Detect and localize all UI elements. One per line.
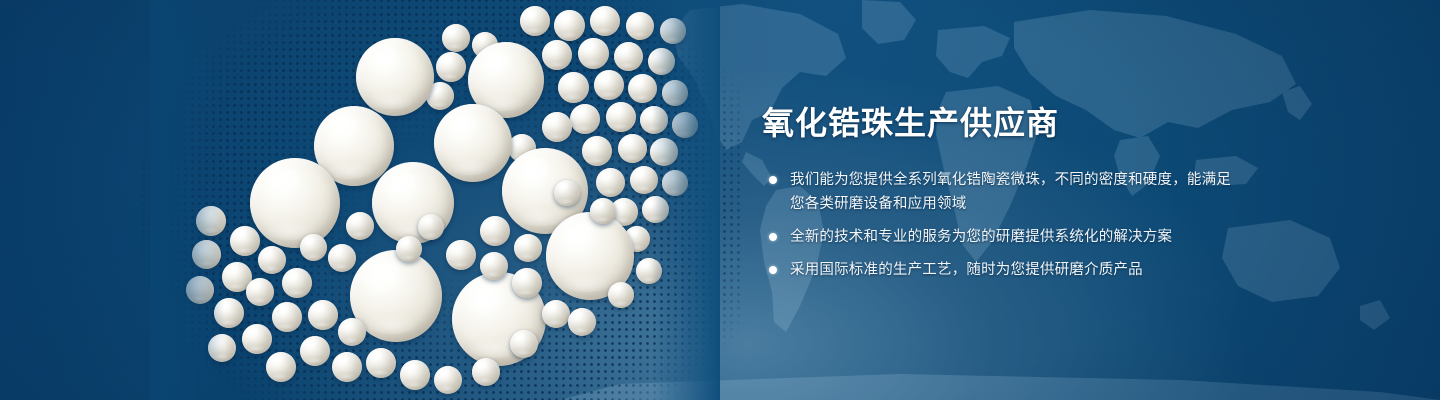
page-title: 氧化锆珠生产供应商 <box>762 104 1232 142</box>
list-item-label: 全新的技术和专业的服务为您的研磨提供系统化的解决方案 <box>790 229 1172 245</box>
list-item: 全新的技术和专业的服务为您的研磨提供系统化的解决方案 <box>762 225 1232 249</box>
feature-list: 我们能为您提供全系列氧化锆陶瓷微珠，不同的密度和硬度，能满足您各类研磨设备和应用… <box>762 168 1232 282</box>
bullet-dot-icon <box>769 266 777 274</box>
list-item-label: 采用国际标准的生产工艺，随时为您提供研磨介质产品 <box>790 262 1143 278</box>
list-item: 我们能为您提供全系列氧化锆陶瓷微珠，不同的密度和硬度，能满足您各类研磨设备和应用… <box>762 168 1232 216</box>
bead-cluster <box>150 0 720 400</box>
bullet-dot-icon <box>769 176 777 184</box>
list-item: 采用国际标准的生产工艺，随时为您提供研磨介质产品 <box>762 258 1232 282</box>
list-item-label: 我们能为您提供全系列氧化锆陶瓷微珠，不同的密度和硬度，能满足您各类研磨设备和应用… <box>790 172 1231 212</box>
hero-banner: 氧化锆珠生产供应商 我们能为您提供全系列氧化锆陶瓷微珠，不同的密度和硬度，能满足… <box>0 0 1440 400</box>
zirconia-beads-photo <box>150 0 720 400</box>
banner-content: 氧化锆珠生产供应商 我们能为您提供全系列氧化锆陶瓷微珠，不同的密度和硬度，能满足… <box>762 104 1232 282</box>
bullet-dot-icon <box>769 233 777 241</box>
